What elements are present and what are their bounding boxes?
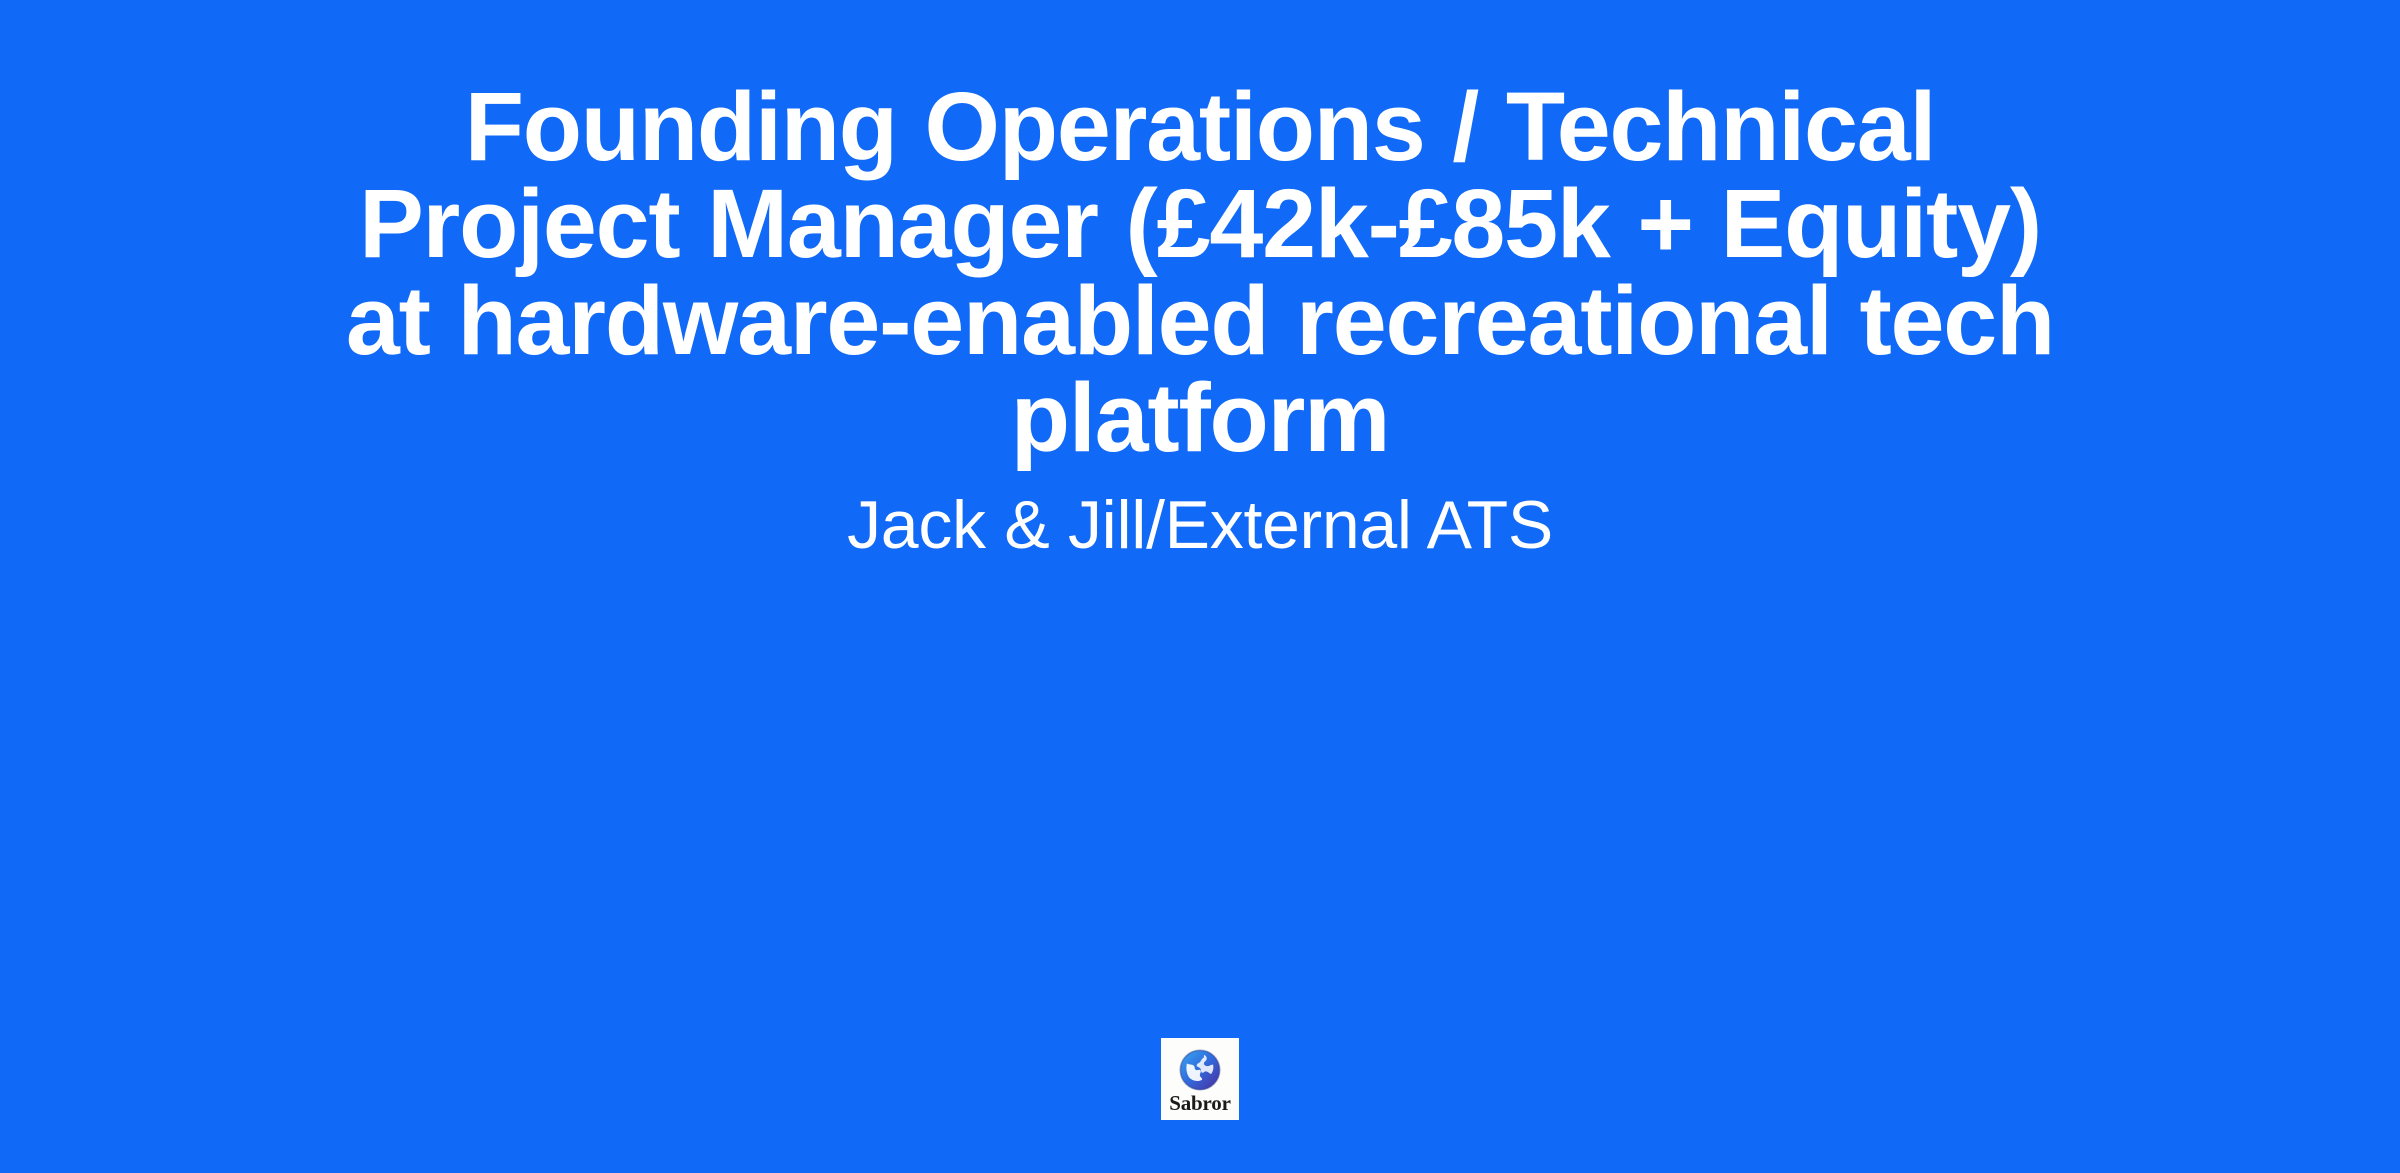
globe-icon [1179, 1049, 1221, 1091]
hero-content: Founding Operations / Technical Project … [0, 0, 2400, 561]
brand-logo: Sabror [0, 1038, 2400, 1120]
company-name-label: Sabror [1169, 1093, 1230, 1114]
logo-card: Sabror [1161, 1038, 1239, 1120]
page-title: Founding Operations / Technical Project … [320, 78, 2080, 466]
job-posting-card: Founding Operations / Technical Project … [0, 0, 2400, 1173]
job-source-subtitle: Jack & Jill/External ATS [320, 466, 2080, 561]
